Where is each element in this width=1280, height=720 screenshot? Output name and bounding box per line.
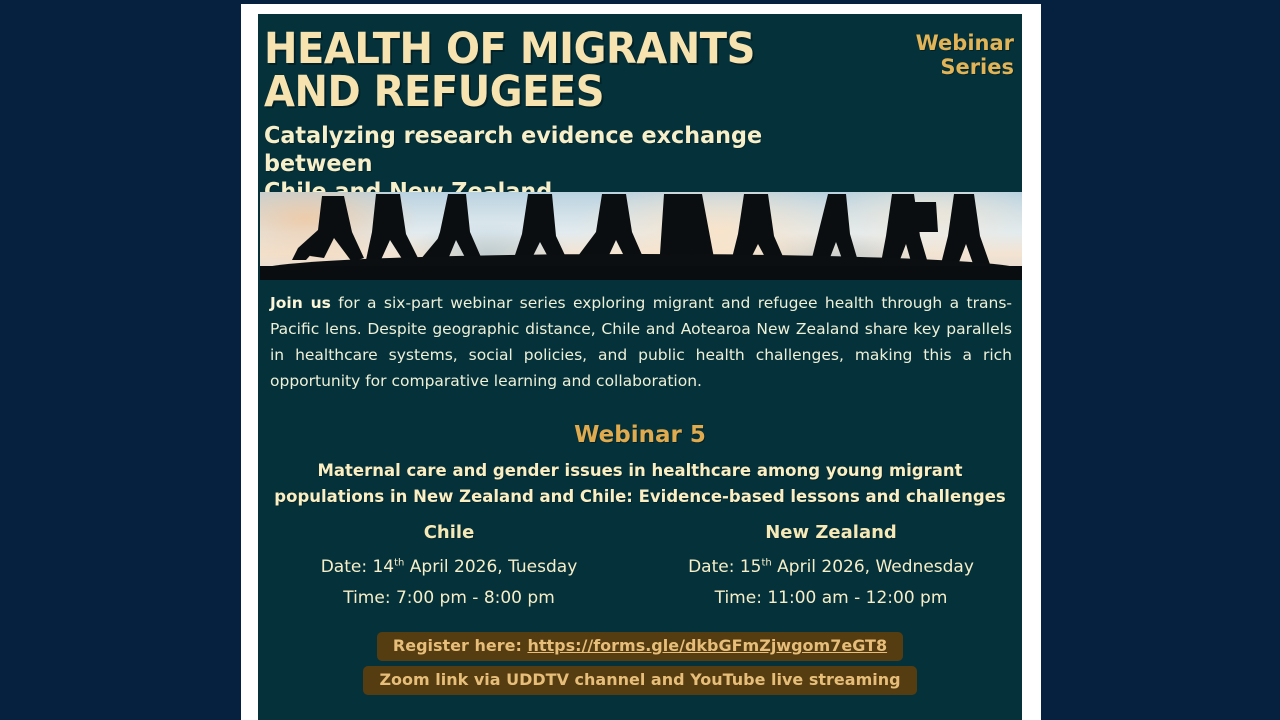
location-time-new-zealand: Time: 11:00 am - 12:00 pm bbox=[640, 583, 1022, 614]
register-row: Register here: https://forms.gle/dkbGFmZ… bbox=[258, 632, 1022, 666]
register-link[interactable]: https://forms.gle/dkbGFmZjwgom7eGT8 bbox=[527, 636, 887, 655]
location-date-chile: Date: 14th April 2026, Tuesday bbox=[258, 552, 640, 583]
banner-ground-base bbox=[260, 266, 1022, 280]
intro-lead: Join us bbox=[270, 294, 331, 312]
location-name-new-zealand: New Zealand bbox=[640, 522, 1022, 543]
location-chile: Chile Date: 14th April 2026, Tuesday Tim… bbox=[258, 522, 640, 614]
poster-subtitle-line-1: Catalyzing research evidence exchange be… bbox=[264, 122, 846, 178]
location-date-chile-ordinal: th bbox=[394, 557, 404, 568]
location-date-chile-suffix: April 2026, Tuesday bbox=[404, 557, 577, 577]
location-new-zealand: New Zealand Date: 15th April 2026, Wedne… bbox=[640, 522, 1022, 614]
webinar-series-label-line-1: Webinar bbox=[916, 31, 1014, 55]
title-block: HEALTH OF MIGRANTS AND REFUGEES Catalyzi… bbox=[264, 28, 864, 206]
location-date-nz-suffix: April 2026, Wednesday bbox=[772, 557, 974, 577]
location-date-chile-prefix: Date: 14 bbox=[321, 557, 394, 577]
location-date-nz-ordinal: th bbox=[761, 557, 771, 568]
page-title-line-2: AND REFUGEES bbox=[264, 71, 822, 114]
locations-row: Chile Date: 14th April 2026, Tuesday Tim… bbox=[258, 522, 1022, 614]
poster-header: HEALTH OF MIGRANTS AND REFUGEES Catalyzi… bbox=[258, 14, 1022, 206]
streaming-button[interactable]: Zoom link via UDDTV channel and YouTube … bbox=[363, 666, 916, 695]
register-label: Register here: bbox=[393, 636, 528, 655]
page-background: HEALTH OF MIGRANTS AND REFUGEES Catalyzi… bbox=[0, 0, 1280, 720]
intro-paragraph: Join us for a six-part webinar series ex… bbox=[270, 290, 1012, 394]
location-date-new-zealand: Date: 15th April 2026, Wednesday bbox=[640, 552, 1022, 583]
webinar-number: Webinar 5 bbox=[258, 422, 1022, 448]
webinar-poster: HEALTH OF MIGRANTS AND REFUGEES Catalyzi… bbox=[258, 14, 1022, 720]
cta-section: Register here: https://forms.gle/dkbGFmZ… bbox=[258, 632, 1022, 700]
location-date-nz-prefix: Date: 15 bbox=[688, 557, 761, 577]
register-button[interactable]: Register here: https://forms.gle/dkbGFmZ… bbox=[377, 632, 903, 661]
page-title: HEALTH OF MIGRANTS AND REFUGEES bbox=[264, 28, 822, 113]
location-name-chile: Chile bbox=[258, 522, 640, 543]
location-time-chile: Time: 7:00 pm - 8:00 pm bbox=[258, 583, 640, 614]
intro-body: for a six-part webinar series exploring … bbox=[270, 294, 1012, 390]
webinar-series-badge: Webinar Series bbox=[916, 31, 1014, 79]
banner-image bbox=[260, 192, 1022, 280]
webinar-title: Maternal care and gender issues in healt… bbox=[258, 458, 1022, 510]
webinar-series-label-line-2: Series bbox=[916, 55, 1014, 79]
streaming-row: Zoom link via UDDTV channel and YouTube … bbox=[258, 666, 1022, 700]
